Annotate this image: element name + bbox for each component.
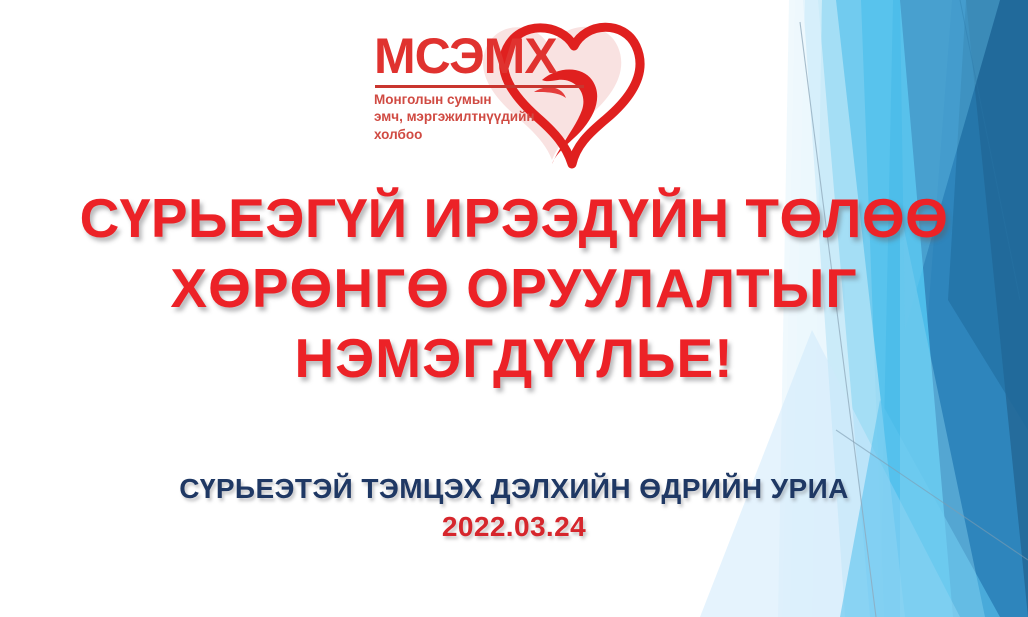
organization-logo: МСЭМХ Монголын сумын эмч, мэргэжилтнүүди… (366, 14, 666, 172)
logo-subtitle-line-3: холбоо (374, 126, 589, 144)
title-line-1: СҮРЬЕЭГҮЙ ИРЭЭДҮЙН ТӨЛӨӨ (0, 183, 1028, 253)
subtitle-slogan: СҮРЬЕЭТЭЙ ТЭМЦЭХ ДЭЛХИЙН ӨДРИЙН УРИА (0, 470, 1028, 508)
logo-divider-rule (375, 85, 584, 88)
slide-subtitle: СҮРЬЕЭТЭЙ ТЭМЦЭХ ДЭЛХИЙН ӨДРИЙН УРИА 202… (0, 470, 1028, 546)
logo-text-block: МСЭМХ Монголын сумын эмч, мэргэжилтнүүди… (374, 31, 589, 143)
logo-subtitle-line-2: эмч, мэргэжилтнүүдийн (374, 108, 589, 126)
subtitle-date: 2022.03.24 (0, 508, 1028, 546)
slide-title: СҮРЬЕЭГҮЙ ИРЭЭДҮЙН ТӨЛӨӨ ХӨРӨНГӨ ОРУУЛАЛ… (0, 183, 1028, 393)
presentation-slide: МСЭМХ Монголын сумын эмч, мэргэжилтнүүди… (0, 0, 1028, 617)
title-line-3: НЭМЭГДҮҮЛЬЕ! (0, 323, 1028, 393)
logo-acronym: МСЭМХ (374, 31, 589, 81)
title-line-2: ХӨРӨНГӨ ОРУУЛАЛТЫГ (0, 253, 1028, 323)
logo-subtitle-line-1: Монголын сумын (374, 91, 589, 109)
